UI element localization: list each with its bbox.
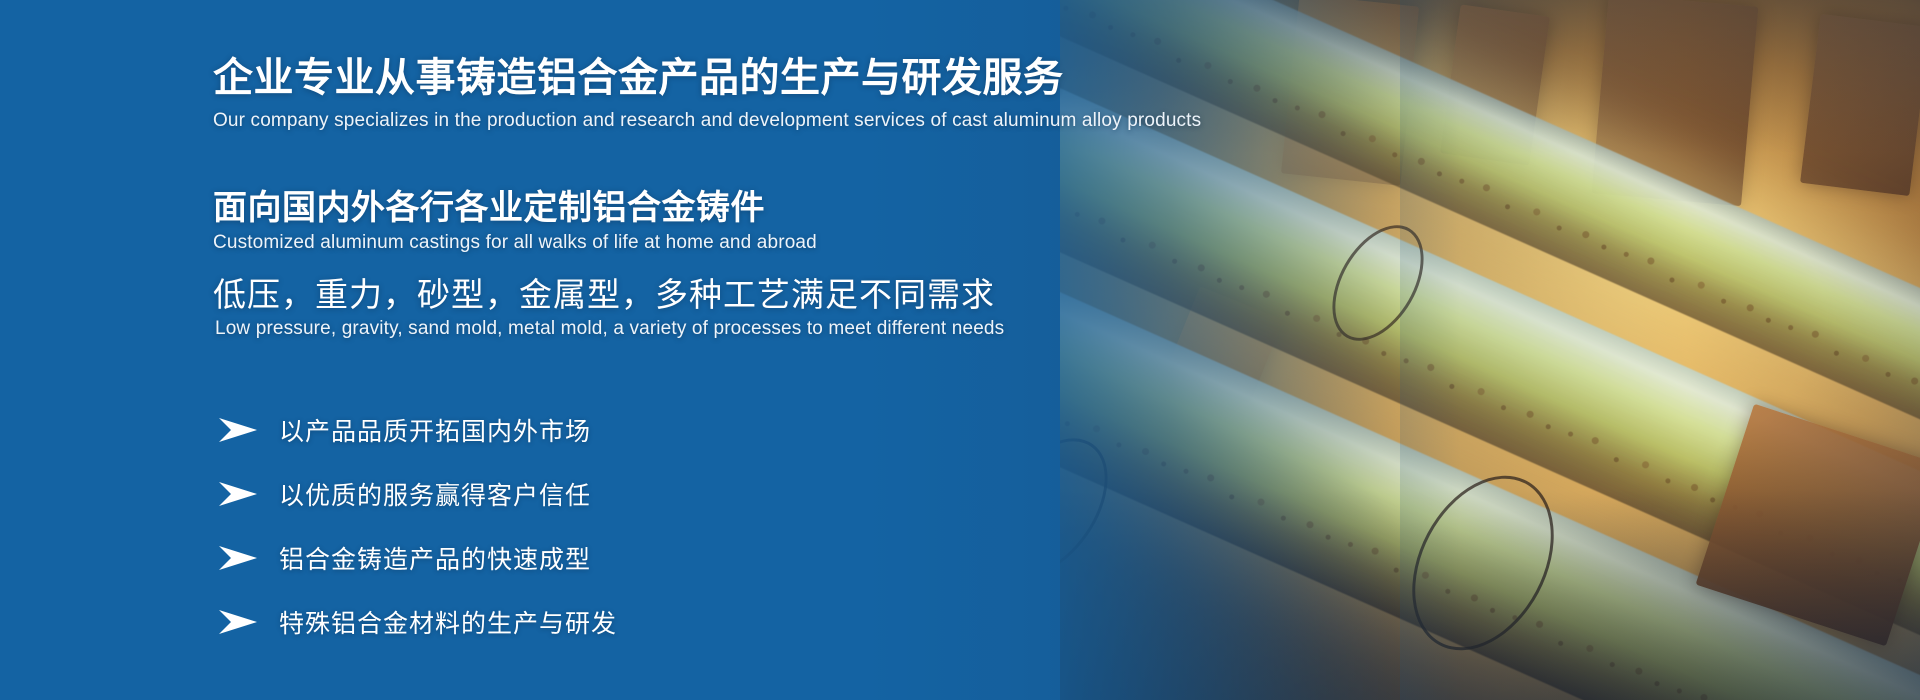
list-item: 以产品品质开拓国内外市场 bbox=[217, 398, 917, 462]
feature-bullet-list: 以产品品质开拓国内外市场 以优质的服务赢得客户信任 铝合金铸造产品的快速成型 特… bbox=[217, 398, 917, 654]
list-item-label: 铝合金铸造产品的快速成型 bbox=[279, 540, 591, 576]
headline-secondary-cn: 面向国内外各行各业定制铝合金铸件 bbox=[213, 180, 765, 229]
list-item: 以优质的服务赢得客户信任 bbox=[217, 462, 917, 526]
headline-primary-cn: 企业专业从事铸造铝合金产品的生产与研发服务 bbox=[213, 56, 1064, 100]
arrow-right-icon bbox=[217, 481, 259, 507]
headline-tertiary-en: Low pressure, gravity, sand mold, metal … bbox=[215, 318, 1004, 340]
list-item-label: 以产品品质开拓国内外市场 bbox=[279, 412, 591, 448]
blue-tint-right bbox=[1400, 0, 1920, 700]
banner-content: 企业专业从事铸造铝合金产品的生产与研发服务 Our company specia… bbox=[213, 0, 1413, 700]
headline-tertiary-cn: 低压，重力，砂型，金属型，多种工艺满足不同需求 bbox=[213, 268, 995, 316]
headline-primary-en: Our company specializes in the productio… bbox=[213, 110, 1201, 132]
list-item-label: 以优质的服务赢得客户信任 bbox=[279, 476, 591, 512]
list-item: 特殊铝合金材料的生产与研发 bbox=[217, 590, 917, 654]
headline-secondary-en: Customized aluminum castings for all wal… bbox=[213, 232, 817, 254]
hero-banner: 企业专业从事铸造铝合金产品的生产与研发服务 Our company specia… bbox=[0, 0, 1920, 700]
arrow-right-icon bbox=[217, 417, 259, 443]
list-item: 铝合金铸造产品的快速成型 bbox=[217, 526, 917, 590]
arrow-right-icon bbox=[217, 545, 259, 571]
arrow-right-icon bbox=[217, 609, 259, 635]
list-item-label: 特殊铝合金材料的生产与研发 bbox=[279, 604, 617, 640]
